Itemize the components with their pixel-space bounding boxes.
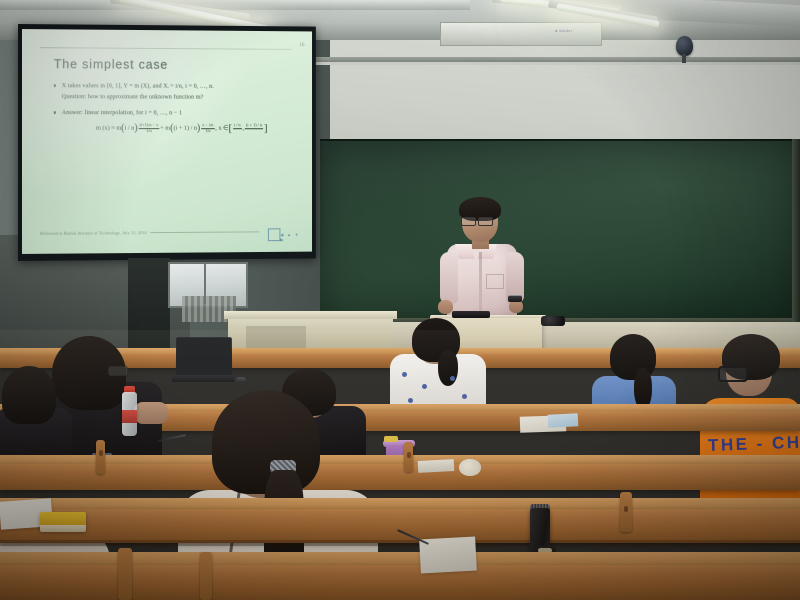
- wall-equipment-box: [440, 22, 602, 46]
- formula-plus: + m: [160, 125, 170, 132]
- yellow-book-pages: [40, 525, 86, 532]
- lecturer-left-hand: [438, 300, 453, 314]
- formula-interval-a: i / n: [233, 123, 242, 134]
- formula-lhs: m (x) ≈ m: [96, 125, 121, 132]
- formula-fraction-2: x − i/n1/n: [201, 123, 214, 134]
- glasses-icon: [461, 217, 495, 224]
- ceiling-speaker: [676, 36, 693, 56]
- formula-arg1: i / n: [125, 125, 135, 132]
- slide-formula: m (x) ≈ m(i / n)(i+1)/n − x1/n+ m((i + 1…: [77, 122, 287, 134]
- student-hair: [2, 366, 56, 424]
- floral-dot: [450, 376, 455, 381]
- chalkboard-right-edge: [792, 139, 800, 324]
- formula-interval-b: (i + 1) / n: [245, 123, 263, 134]
- glasses-bridge: [474, 220, 478, 221]
- formula-paren-close-2: ): [197, 123, 200, 134]
- student-shirt-text: THE - CHIN: [708, 432, 800, 456]
- slide-bullet-1-line1: X takes values in [0, 1], Y = m (X), and…: [62, 81, 277, 92]
- student-ponytail: [438, 350, 458, 386]
- bench-bolt-hole: [624, 506, 628, 512]
- lecturer-left-arm: [440, 252, 458, 304]
- floral-dot: [462, 394, 467, 399]
- bottle-label: [122, 410, 137, 423]
- speaker-bracket: [682, 54, 686, 63]
- bench-divider: [118, 548, 132, 600]
- wall-trim-highlight: [310, 62, 800, 65]
- ceiling-beam-left: [0, 0, 470, 10]
- chalkboard: [320, 139, 800, 323]
- slide-bullet-1-line2: Question: how to approximate the unknown…: [62, 92, 277, 103]
- student-arm: [134, 402, 168, 424]
- presentation-slide: 16 The simplest case X takes values in […: [22, 29, 312, 254]
- bullet-dot-icon: [54, 84, 56, 86]
- slide-nav-arrows-icon[interactable]: ◀ ▲ ▼ ▶: [280, 232, 300, 242]
- lecturer-shirt-pocket: [486, 274, 504, 289]
- laptop-base: [172, 375, 234, 382]
- formula-bracket-close: ]: [264, 122, 268, 134]
- glasses-right-lens: [478, 217, 493, 226]
- bullet-dot-icon: [54, 111, 56, 113]
- laptop-lid: [176, 337, 232, 377]
- bench-row-4: [0, 509, 800, 543]
- formula-paren-close-1: ): [134, 123, 137, 134]
- slide-header-rule: [40, 47, 292, 50]
- yellow-object: [384, 436, 398, 442]
- slide-title: The simplest case: [54, 57, 168, 72]
- bench-row-4-shadow: [0, 540, 800, 546]
- slide-page-number: 16: [300, 43, 305, 48]
- front-teacher-desk-top: [224, 311, 397, 319]
- student-hair: [212, 390, 320, 494]
- projection-screen: 16 The simplest case X takes values in […: [18, 24, 316, 261]
- lecturer-shirt-placket: [479, 252, 482, 316]
- lectern-object: [541, 316, 565, 326]
- lectern-device: [452, 311, 490, 318]
- chalkboard-glare: [320, 141, 800, 323]
- bench-bolt-hole: [99, 450, 103, 456]
- formula-bracket-open: [: [228, 122, 232, 134]
- slide-navigation[interactable]: ◀ ▲ ▼ ▶: [268, 228, 301, 240]
- slide-nav-box-icon[interactable]: [268, 228, 280, 241]
- formula-frac2-den: 1/n: [201, 129, 214, 134]
- formula-arg2: (i + 1) / n: [173, 125, 197, 132]
- bench-divider: [620, 492, 632, 532]
- formula-fraction-1: (i+1)/n − x1/n: [139, 123, 160, 134]
- glasses-icon: [718, 366, 748, 382]
- formula-interval-b-blank: [245, 129, 263, 134]
- bench-bolt-hole: [407, 452, 411, 458]
- slide-bullet-1: X takes values in [0, 1], Y = m (X), and…: [62, 81, 277, 103]
- glasses-left-lens: [461, 217, 476, 226]
- bench-divider: [200, 552, 212, 600]
- student-floral-top: [390, 318, 490, 413]
- wristwatch: [508, 295, 522, 302]
- floral-dot: [408, 398, 413, 403]
- blue-paper-sheet: [548, 413, 579, 428]
- crumpled-tissue: [459, 459, 481, 476]
- computer-mouse: [236, 377, 246, 383]
- slide-bullet-2-line1: Answer: linear interpolation, for i = 0,…: [62, 108, 277, 119]
- wall-box-label: ● Model: [555, 28, 572, 33]
- student-left-edge: [0, 372, 74, 462]
- formula-interval-a-blank: [233, 129, 242, 134]
- formula-domain: x ∈: [218, 125, 228, 132]
- slide-bullet-2: Answer: linear interpolation, for i = 0,…: [62, 108, 277, 119]
- lecture-hall-photo: ● Model 16 The simplest case X takes val…: [0, 0, 800, 600]
- floral-dot: [422, 384, 427, 389]
- bench-divider: [96, 440, 105, 474]
- formula-frac1-den: 1/n: [139, 129, 160, 134]
- glasses-icon: [108, 366, 128, 376]
- floral-dot: [402, 372, 407, 377]
- notebook: [418, 459, 455, 473]
